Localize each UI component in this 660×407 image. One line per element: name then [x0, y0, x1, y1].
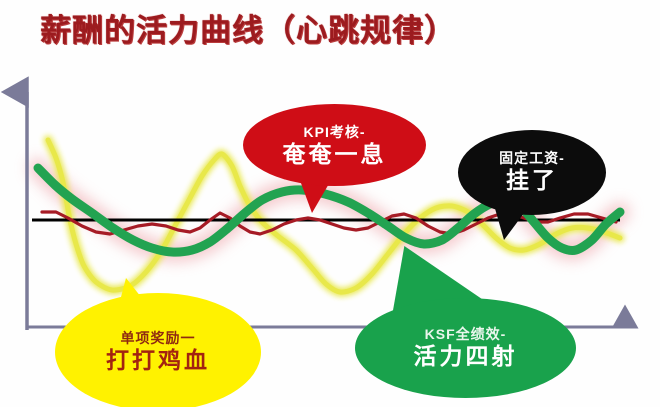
- callout-ksf-line2: 活力四射: [414, 342, 518, 371]
- callout-bonus-line1: 单项奖励一: [121, 330, 196, 346]
- callout-fixed-salary[interactable]: 固定工资- 挂了: [458, 130, 606, 215]
- callout-kpi[interactable]: KPI考核- 奄奄一息: [243, 104, 426, 186]
- callout-bonus-line2: 打打鸡血: [106, 346, 210, 375]
- callout-bonus[interactable]: 单项奖励一 打打鸡血: [55, 293, 261, 407]
- salary-vitality-curve-slide: 薪酬的活力曲线（心跳规律）: [0, 0, 660, 407]
- callout-ksf-line1: KSF全绩效-: [425, 326, 507, 342]
- callout-fixed-line2: 挂了: [506, 166, 558, 195]
- callout-fixed-line1: 固定工资-: [499, 150, 565, 166]
- callout-kpi-line1: KPI考核-: [304, 124, 366, 140]
- callout-kpi-line2: 奄奄一息: [283, 140, 387, 169]
- callout-ksf[interactable]: KSF全绩效- 活力四射: [355, 298, 576, 398]
